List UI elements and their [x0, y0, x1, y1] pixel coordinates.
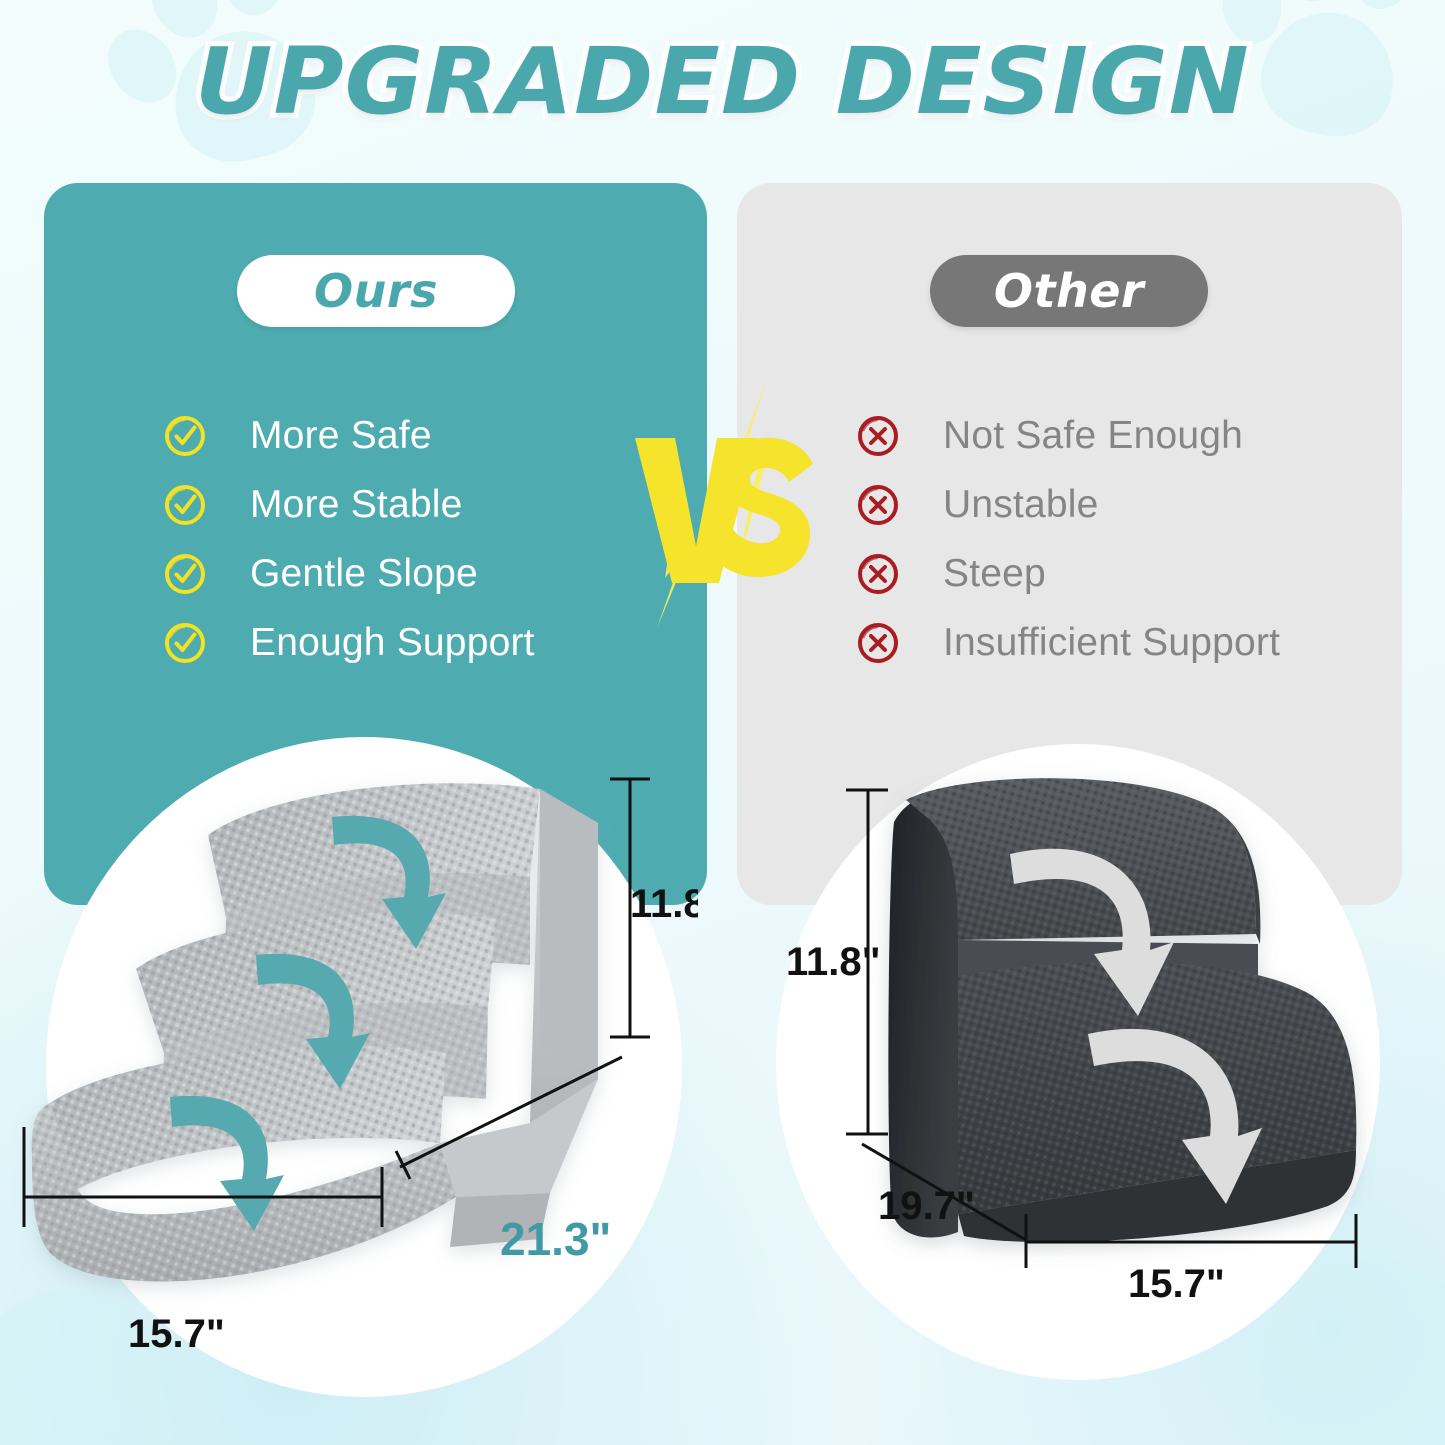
dimension-width-other: 15.7" — [1128, 1262, 1225, 1307]
badge-ours: Ours — [237, 255, 515, 327]
feature-item: Gentle Slope — [162, 539, 535, 608]
product-photo-ours: 11.8" 21.3" 15.7" — [10, 727, 698, 1415]
dimension-height-other: 11.8" — [786, 940, 881, 985]
feature-label: Steep — [943, 552, 1046, 596]
x-circle-icon — [855, 620, 901, 666]
page-title-wrap: UPGRADED DESIGN — [0, 36, 1445, 128]
feature-label: Enough Support — [250, 621, 535, 665]
feature-list-other: Not Safe Enough Unstable Steep — [855, 401, 1280, 677]
feature-item: Enough Support — [162, 608, 535, 677]
feature-label: Insufficient Support — [943, 621, 1280, 665]
pet-stairs-2-step-illustration — [888, 778, 1356, 1242]
feature-label: More Safe — [250, 414, 432, 458]
check-circle-icon — [162, 551, 208, 597]
x-circle-icon — [855, 551, 901, 597]
feature-item: More Stable — [162, 470, 535, 539]
feature-item: More Safe — [162, 401, 535, 470]
vs-badge — [617, 378, 832, 628]
x-circle-icon — [855, 482, 901, 528]
feature-label: Not Safe Enough — [943, 414, 1243, 458]
dimension-height-ours: 11.8" — [630, 882, 698, 927]
page-title: UPGRADED DESIGN — [195, 36, 1250, 128]
feature-item: Unstable — [855, 470, 1280, 539]
feature-label: Unstable — [943, 483, 1099, 527]
feature-item: Not Safe Enough — [855, 401, 1280, 470]
badge-other: Other — [930, 255, 1208, 327]
pet-stairs-3-step-illustration — [32, 783, 598, 1281]
feature-label: More Stable — [250, 483, 462, 527]
feature-label: Gentle Slope — [250, 552, 478, 596]
product-photo-other: 11.8" 19.7" 15.7" — [758, 744, 1408, 1394]
x-circle-icon — [855, 413, 901, 459]
dimension-depth-other: 19.7" — [878, 1184, 975, 1229]
check-circle-icon — [162, 413, 208, 459]
check-circle-icon — [162, 482, 208, 528]
vs-text-shape — [635, 438, 813, 583]
feature-list-ours: More Safe More Stable Gentle Slope — [162, 401, 535, 677]
check-circle-icon — [162, 620, 208, 666]
dimension-width-ours: 15.7" — [128, 1312, 225, 1357]
feature-item: Steep — [855, 539, 1280, 608]
dimension-depth-ours: 21.3" — [500, 1212, 611, 1266]
feature-item: Insufficient Support — [855, 608, 1280, 677]
